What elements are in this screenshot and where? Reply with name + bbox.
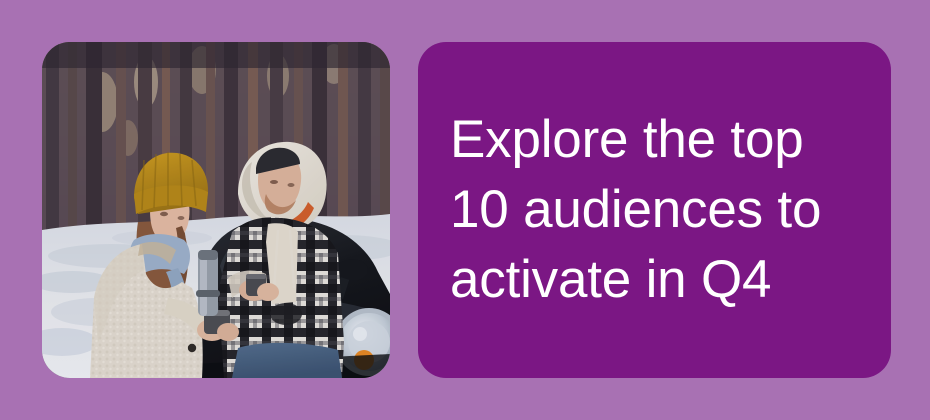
headline-text: Explore the top 10 audiences to activate… — [418, 105, 847, 315]
photo-content — [42, 42, 390, 378]
promo-banner: Explore the top 10 audiences to activate… — [0, 0, 930, 420]
photo-grade — [42, 42, 390, 378]
photo-card — [42, 42, 390, 378]
winter-couple-photo — [42, 42, 390, 378]
headline-panel: Explore the top 10 audiences to activate… — [418, 42, 891, 378]
